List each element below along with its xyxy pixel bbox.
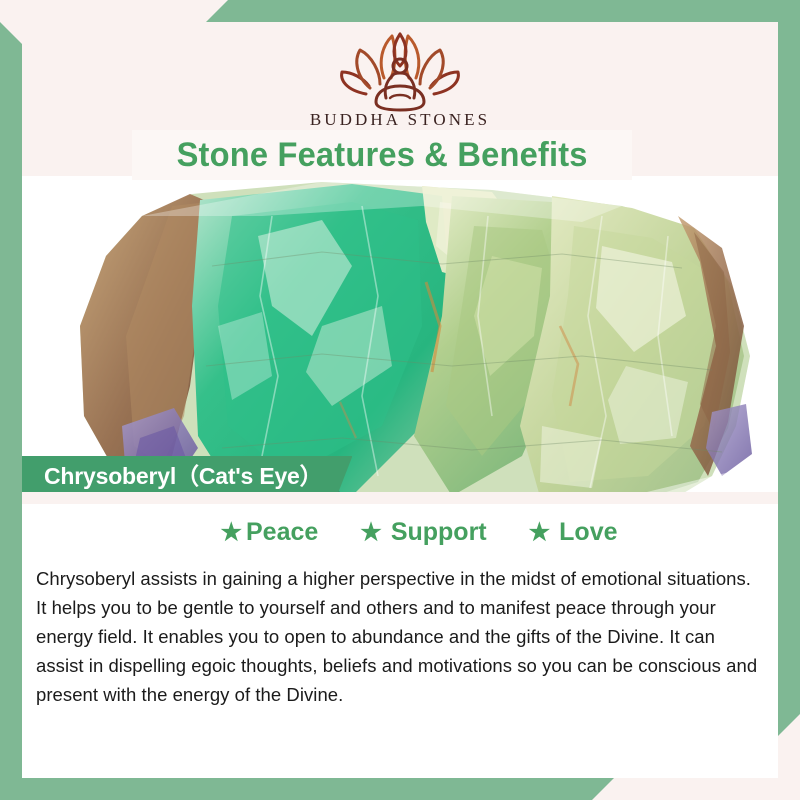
infographic-poster: BUDDHA STONES Stone Features & Benefits (0, 0, 800, 800)
stone-name: Chrysoberyl（Cat's Eye） (44, 457, 322, 491)
content-section: ★ Peace ★ Support ★ Love Chrysoberyl ass… (22, 492, 778, 778)
keyword-peace: ★ Peace (220, 518, 318, 547)
cream-divider (22, 492, 778, 504)
keyword-label: Peace (246, 518, 318, 547)
frame-border-left (0, 0, 22, 800)
star-icon: ★ (220, 521, 242, 545)
frame-border-bottom (0, 778, 800, 800)
page-title: Stone Features & Benefits (176, 136, 587, 175)
star-icon: ★ (529, 521, 551, 545)
frame-border-top (0, 0, 800, 22)
keyword-list: ★ Peace ★ Support ★ Love (22, 518, 778, 547)
frame-border-right (778, 0, 800, 800)
keyword-support: ★ Support (360, 518, 486, 547)
poster-canvas: BUDDHA STONES Stone Features & Benefits (22, 22, 778, 778)
keyword-label: Love (559, 518, 617, 547)
brand-header: BUDDHA STONES (22, 22, 778, 146)
lotus-meditation-icon (336, 28, 464, 112)
description-paragraph: Chrysoberyl assists in gaining a higher … (36, 564, 764, 709)
star-icon: ★ (360, 521, 382, 545)
keyword-label: Support (391, 518, 487, 547)
stone-name-band: Chrysoberyl（Cat's Eye） (22, 456, 352, 492)
keyword-love: ★ Love (529, 518, 618, 547)
brand-wordmark: BUDDHA STONES (310, 110, 490, 130)
title-banner: Stone Features & Benefits (132, 130, 632, 180)
